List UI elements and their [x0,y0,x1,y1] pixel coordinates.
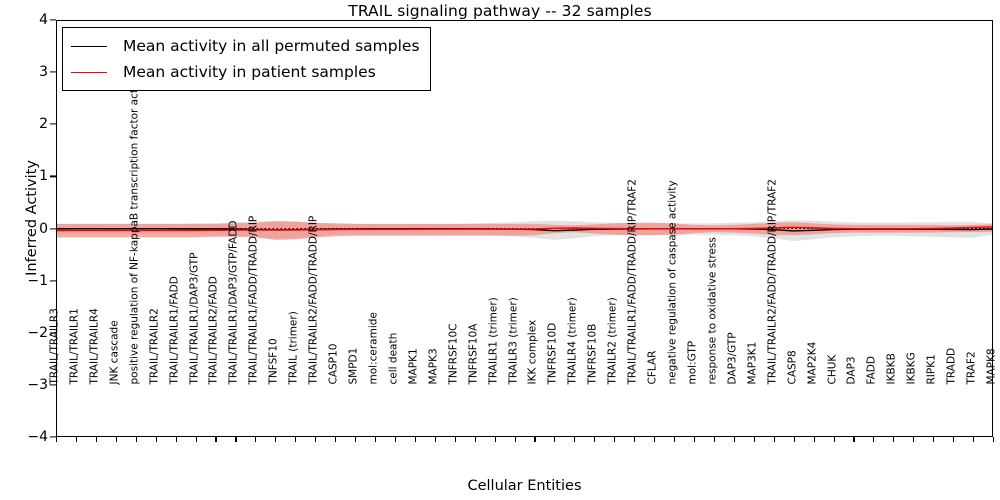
x-tick-mark [814,437,815,442]
y-tick-label: 2 [39,116,48,132]
x-tick-mark [913,437,914,442]
y-tick-label: 3 [39,64,48,80]
x-tick-mark [435,437,436,442]
y-tick-label: 4 [39,12,48,28]
legend-label-patient: Mean activity in patient samples [123,63,376,81]
x-tick-mark [295,437,296,442]
x-tick-mark [893,437,894,442]
x-tick-mark [933,437,934,442]
legend-label-permuted: Mean activity in all permuted samples [123,37,420,55]
x-axis-title: Cellular Entities [56,478,993,494]
x-tick-mark [694,437,695,442]
x-tick-mark [196,437,197,442]
x-tick-mark [574,437,575,442]
legend-swatch-permuted [71,46,107,47]
y-tick-label: 1 [39,168,48,184]
y-tick-label: −3 [27,377,48,393]
x-tick-mark [76,437,77,442]
y-tick-label: −2 [27,325,48,341]
x-tick-mark [534,437,535,442]
x-tick-mark [554,437,555,442]
y-tick-label: 0 [39,221,48,237]
x-tick-mark [834,437,835,442]
x-tick-mark [674,437,675,442]
x-tick-mark [116,437,117,442]
x-tick-mark [315,437,316,442]
x-tick-mark [255,437,256,442]
x-tick-mark [714,437,715,442]
x-tick-mark [56,437,57,442]
x-tick-mark [475,437,476,442]
x-tick-mark [156,437,157,442]
x-tick-mark [853,437,854,442]
x-tick-mark [794,437,795,442]
x-tick-mark [654,437,655,442]
x-tick-mark [993,437,994,442]
x-tick-mark [335,437,336,442]
legend-item-permuted: Mean activity in all permuted samples [71,33,420,59]
legend-swatch-patient [71,72,107,73]
x-tick-mark [774,437,775,442]
x-tick-mark [973,437,974,442]
x-tick-mark [395,437,396,442]
x-tick-mark [614,437,615,442]
x-tick-mark [275,437,276,442]
y-tick-label: −4 [27,429,48,445]
x-tick-mark [96,437,97,442]
y-axis: −4−3−2−101234 [0,20,56,437]
legend: Mean activity in all permuted samples Me… [62,27,431,91]
x-tick-mark [235,437,236,442]
x-tick-mark [515,437,516,442]
x-tick-mark [754,437,755,442]
legend-item-patient: Mean activity in patient samples [71,59,420,85]
x-tick-mark [495,437,496,442]
x-tick-mark [375,437,376,442]
x-tick-mark [415,437,416,442]
y-tick-label: −1 [27,273,48,289]
x-tick-mark [734,437,735,442]
x-tick-mark [634,437,635,442]
figure-canvas: TRAIL signaling pathway -- 32 samples In… [0,0,1000,500]
x-tick-mark [355,437,356,442]
x-tick-mark [455,437,456,442]
x-tick-mark [136,437,137,442]
x-tick-mark [594,437,595,442]
x-axis-ticks [56,437,993,443]
chart-title: TRAIL signaling pathway -- 32 samples [0,2,1000,20]
x-tick-mark [873,437,874,442]
x-tick-mark [176,437,177,442]
x-tick-mark [215,437,216,442]
x-tick-mark [953,437,954,442]
